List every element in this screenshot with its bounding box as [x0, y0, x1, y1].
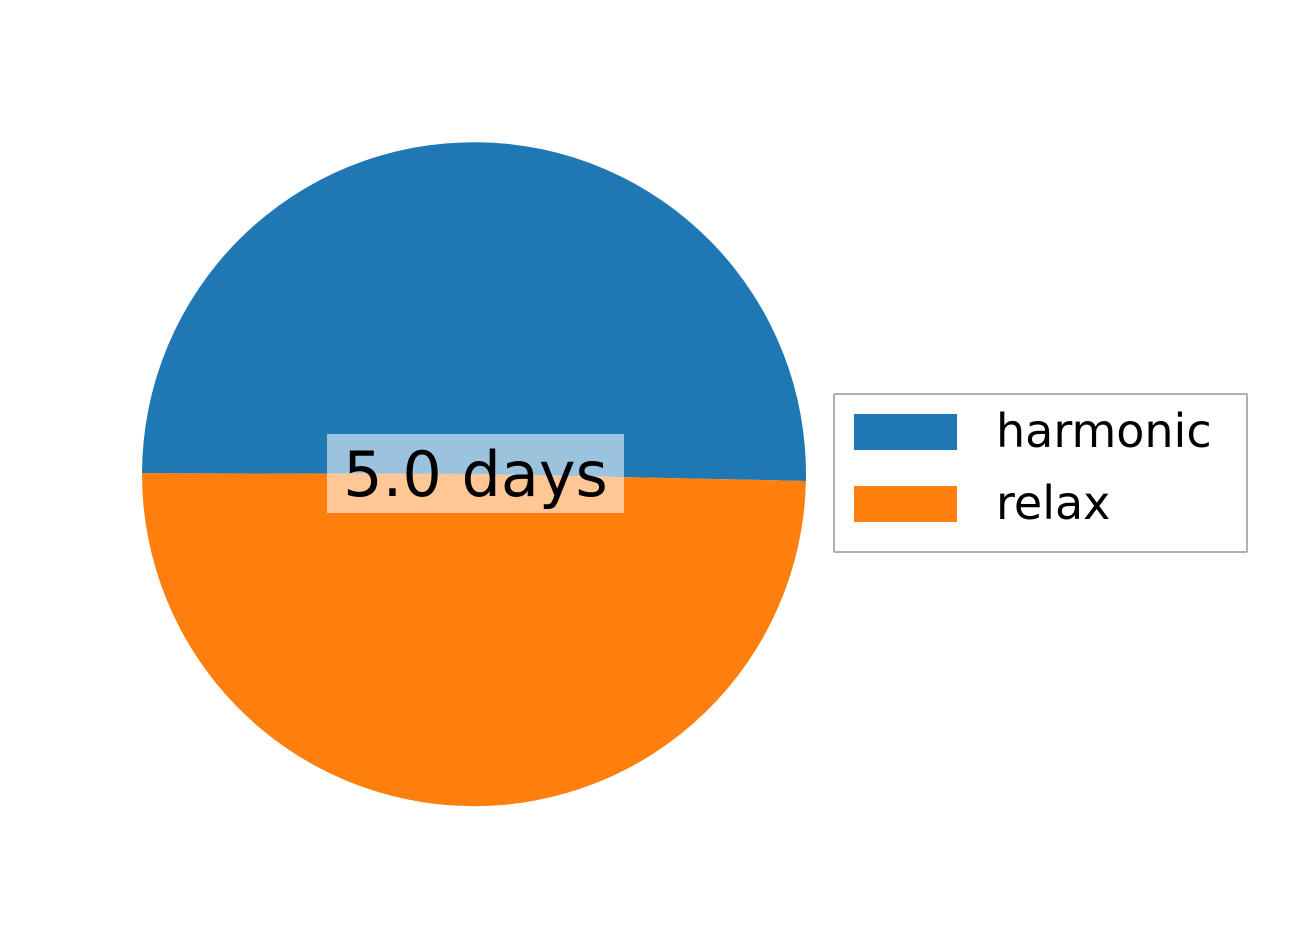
figure-canvas: 5.0 days harmonic relax	[0, 0, 1307, 951]
pie-center-annotation-text: 5.0 days	[343, 444, 608, 506]
chart-legend: harmonic relax	[833, 393, 1248, 553]
pie-slice-harmonic[interactable]	[142, 142, 806, 481]
legend-label-relax: relax	[996, 480, 1110, 526]
legend-item-harmonic[interactable]: harmonic	[854, 407, 1212, 457]
pie-center-annotation: 5.0 days	[327, 434, 624, 513]
legend-item-relax[interactable]: relax	[854, 479, 1110, 529]
pie-slice-relax[interactable]	[142, 473, 806, 806]
legend-color-swatch-harmonic	[854, 414, 957, 450]
legend-label-harmonic: harmonic	[996, 408, 1212, 454]
legend-color-swatch-relax	[854, 486, 957, 522]
